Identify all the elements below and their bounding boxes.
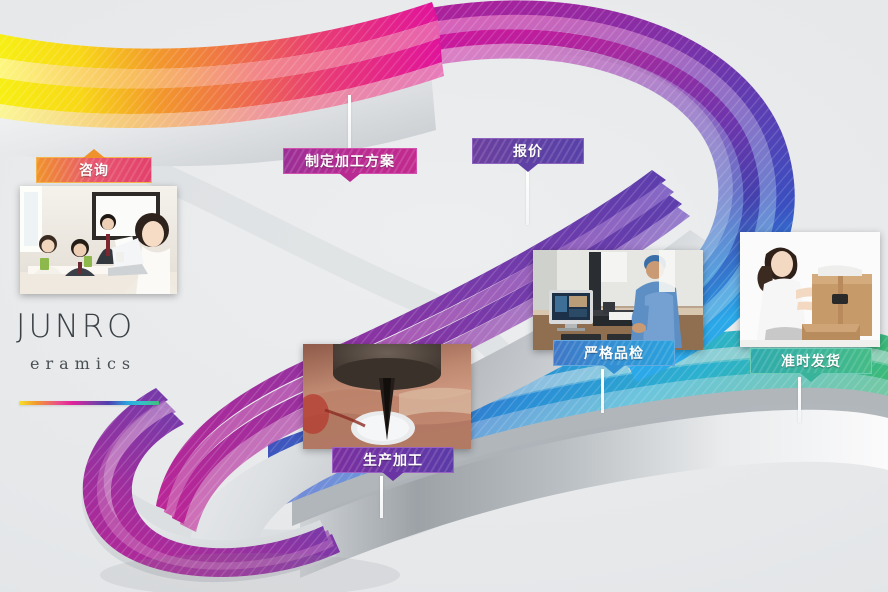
step-banner-delivery[interactable]: 准时发货 xyxy=(750,348,872,374)
step-label: 咨询 xyxy=(79,160,109,180)
photo-production xyxy=(303,344,471,449)
step-label: 制定加工方案 xyxy=(305,151,395,171)
stem-inspection xyxy=(601,369,604,413)
step-label: 生产加工 xyxy=(363,450,423,470)
step-label: 报价 xyxy=(513,141,543,161)
step-label: 严格品检 xyxy=(584,343,644,363)
stem-plan xyxy=(348,95,351,150)
step-banner-inspection[interactable]: 严格品检 xyxy=(553,340,675,366)
photo-delivery xyxy=(740,232,880,347)
ribbon-segment-consult xyxy=(0,2,444,166)
banner-notch-icon xyxy=(800,373,822,382)
step-banner-consult[interactable]: 咨询 xyxy=(36,157,152,183)
brand-logo: JUNRO eramics xyxy=(16,310,159,405)
brand-name: JUNRO xyxy=(16,310,159,342)
stem-quote xyxy=(526,167,529,225)
stem-production xyxy=(380,476,383,518)
photo-consultation xyxy=(20,186,177,294)
stem-delivery xyxy=(798,377,801,423)
step-banner-plan[interactable]: 制定加工方案 xyxy=(283,148,417,174)
photo-inspection xyxy=(533,250,703,350)
step-banner-quote[interactable]: 报价 xyxy=(472,138,584,164)
banner-notch-icon xyxy=(603,365,625,374)
banner-arrow-up-icon xyxy=(83,149,105,158)
process-infographic: 咨询 制定加工方案 报价 生产加工 严格品检 准时发货 JUNRO eramic… xyxy=(0,0,888,592)
banner-notch-icon xyxy=(339,173,361,182)
banner-notch-icon xyxy=(517,163,539,172)
step-label: 准时发货 xyxy=(781,351,841,371)
brand-tagline: eramics xyxy=(30,354,159,373)
banner-notch-icon xyxy=(382,472,404,481)
step-banner-production[interactable]: 生产加工 xyxy=(332,447,454,473)
brand-rule-divider xyxy=(19,401,159,405)
